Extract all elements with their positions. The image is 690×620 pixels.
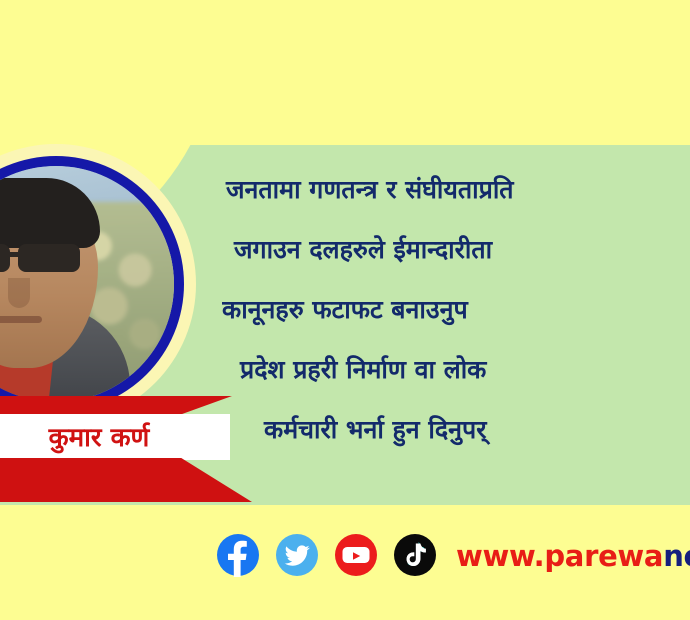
youtube-icon[interactable] — [334, 533, 378, 577]
article-line: प्रदेश प्रहरी निर्माण वा लोक — [222, 340, 690, 400]
website-url[interactable]: www.parewane — [456, 539, 690, 573]
social-links — [216, 533, 437, 577]
sunglasses-icon — [0, 244, 96, 274]
article-line: कानूनहरु फटाफट बनाउनुप — [222, 280, 690, 340]
author-name: कुमार कर्ण — [0, 418, 222, 458]
footer-bar: www.parewane — [0, 505, 690, 620]
avatar — [0, 166, 174, 402]
facebook-icon[interactable] — [216, 533, 260, 577]
article-text: जनतामा गणतन्त्र र संघीयताप्रति जगाउन दलह… — [222, 160, 690, 460]
lens-right — [18, 244, 80, 272]
twitter-icon[interactable] — [275, 533, 319, 577]
article-line: जनतामा गणतन्त्र र संघीयताप्रति — [222, 160, 690, 220]
ribbon-bottom-band — [0, 458, 252, 502]
author-name-ribbon: कुमार कर्ण — [0, 396, 260, 508]
tiktok-icon[interactable] — [393, 533, 437, 577]
news-graphic-card: विचार जनतामा गणतन्त्र र संघीयताप्रति जगा… — [0, 0, 690, 620]
photo-mouth — [0, 316, 42, 323]
url-navy-part: ne — [663, 539, 690, 573]
article-line: जगाउन दलहरुले ईमान्दारीता — [222, 220, 690, 280]
author-portrait — [0, 144, 196, 424]
article-line: कर्मचारी भर्ना हुन दिनुपर् — [222, 400, 690, 460]
photo-nose — [8, 278, 30, 308]
url-red-part: www.parewa — [456, 539, 663, 573]
ribbon-top-band — [0, 396, 232, 416]
lens-left — [0, 244, 10, 272]
